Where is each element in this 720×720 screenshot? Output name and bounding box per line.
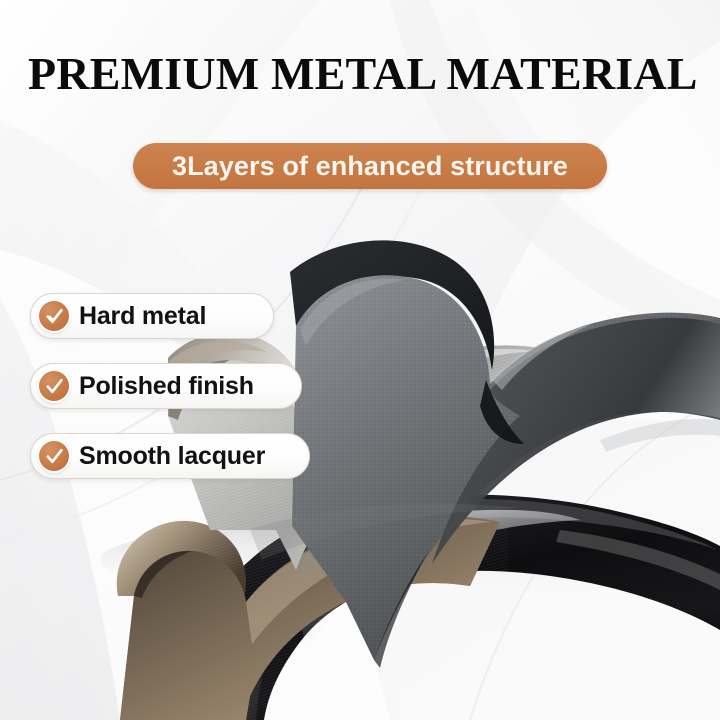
feature-badge-polished-finish: Polished finish <box>30 363 302 409</box>
product-infographic: PREMIUM METAL MATERIAL 3Layers of enhanc… <box>0 0 720 720</box>
background-swoosh-pattern <box>0 0 720 720</box>
feature-badge-label: Smooth lacquer <box>79 442 265 471</box>
check-icon <box>37 369 71 403</box>
feature-badge-smooth-lacquer: Smooth lacquer <box>30 433 310 479</box>
smooth-lacquer-layer <box>117 516 508 720</box>
check-icon <box>37 439 71 473</box>
feature-badge-label: Polished finish <box>79 372 254 401</box>
glossy-black-base <box>176 495 720 720</box>
check-icon <box>37 299 71 333</box>
hard-metal-layer <box>290 240 720 668</box>
feature-badge-hard-metal: Hard metal <box>30 293 274 339</box>
page-title: PREMIUM METAL MATERIAL <box>28 48 700 100</box>
feature-badge-label: Hard metal <box>79 302 206 331</box>
structure-banner: 3Layers of enhanced structure <box>133 143 607 189</box>
structure-banner-label: 3Layers of enhanced structure <box>172 151 568 182</box>
